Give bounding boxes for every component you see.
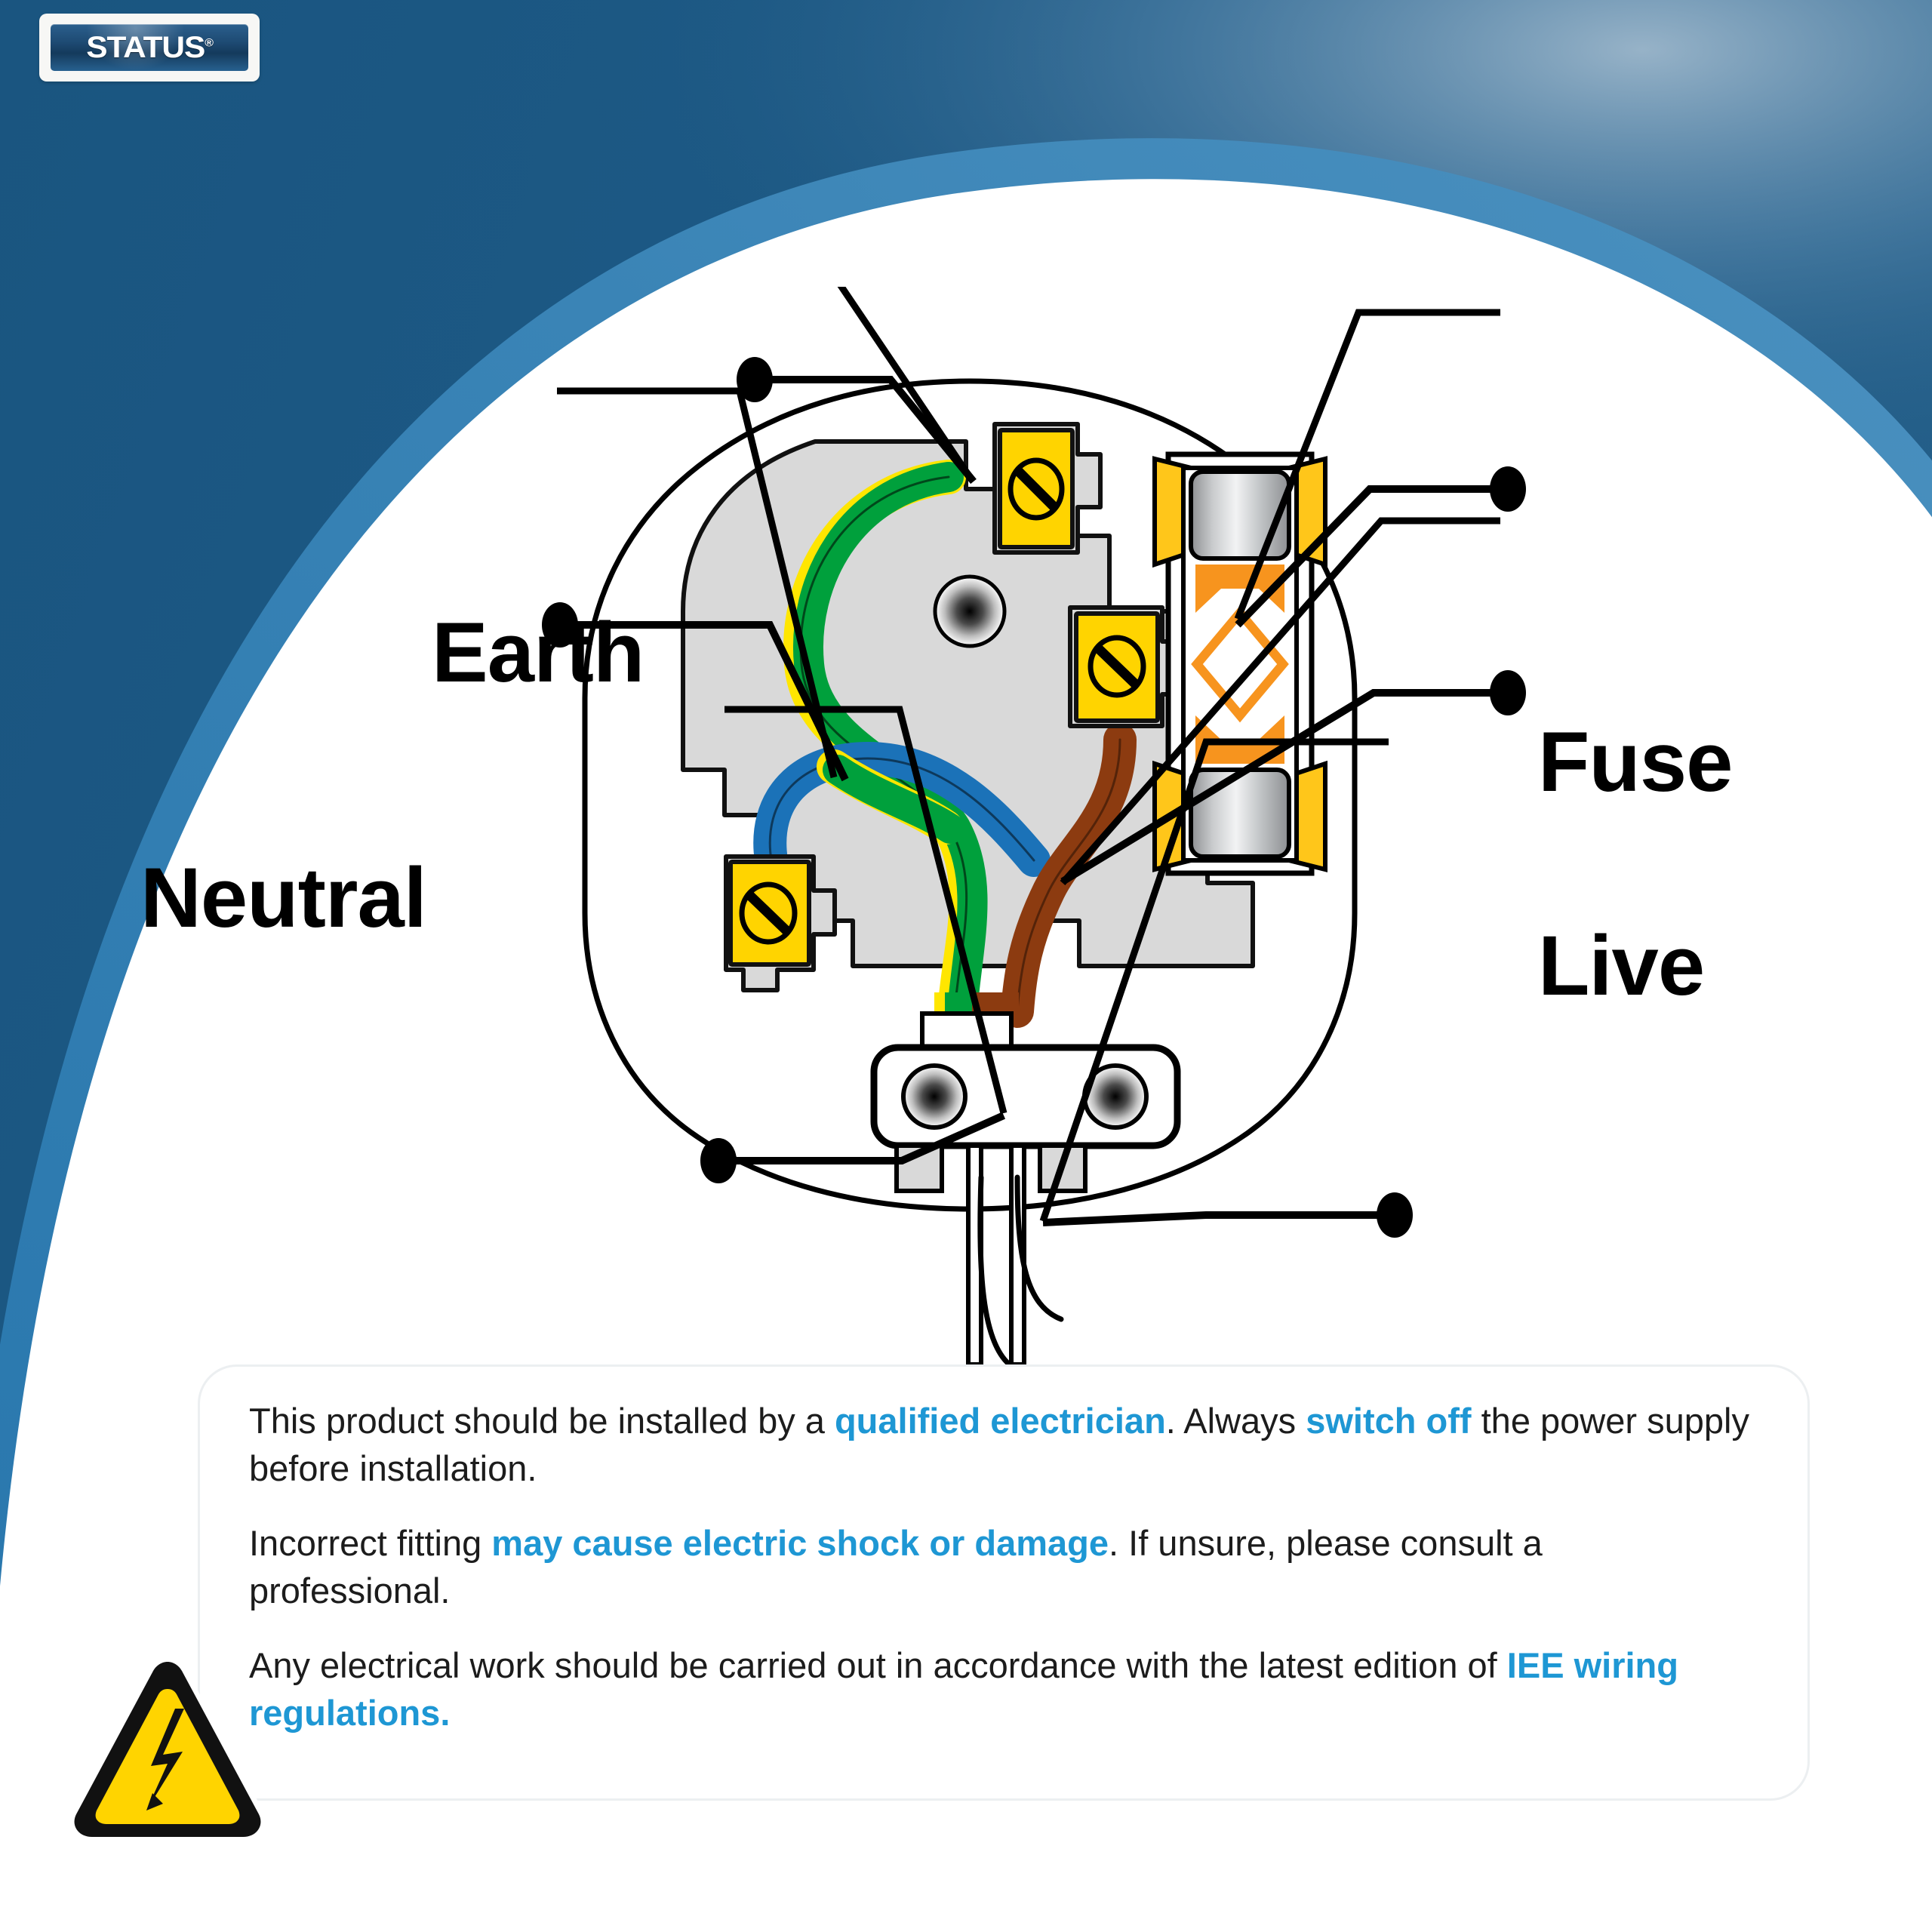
safety-notice-plain: Incorrect fitting — [249, 1523, 491, 1563]
safety-notice-highlight: switch off — [1306, 1401, 1471, 1441]
brand-logo[interactable]: STATUS® — [39, 14, 260, 82]
plug-wiring-diagram: Earth Neutral Fuse Live Cable Grip Flex — [0, 287, 1932, 1366]
brand-logo-text: STATUS® — [86, 32, 213, 63]
registered-mark-icon: ® — [205, 37, 213, 50]
safety-notice-paragraph: Incorrect fitting may cause electric sho… — [249, 1520, 1751, 1615]
cable-grip-screw-left — [903, 1066, 965, 1128]
safety-notice-paragraph: This product should be installed by a qu… — [249, 1398, 1751, 1493]
page-root: STATUS® — [0, 0, 1932, 1932]
safety-notice-plain: This product should be installed by a — [249, 1401, 835, 1441]
safety-notice-plain: Any electrical work should be carried ou… — [249, 1645, 1507, 1685]
safety-notice-text: This product should be installed by a qu… — [249, 1398, 1751, 1737]
electric-shock-warning-icon — [62, 1645, 273, 1850]
callout-label-earth: Earth — [432, 613, 644, 693]
fuse-cap-top — [1191, 472, 1289, 558]
earth-pin-hole — [935, 577, 1004, 646]
callout-label-live: Live — [1538, 926, 1704, 1006]
safety-notice-highlight: may cause electric shock or damage — [491, 1523, 1109, 1563]
safety-notice-paragraph: Any electrical work should be carried ou… — [249, 1642, 1751, 1737]
callout-label-neutral: Neutral — [140, 858, 426, 938]
safety-notice-plain: . Always — [1166, 1401, 1306, 1441]
safety-notice-highlight: qualified electrician — [835, 1401, 1166, 1441]
brand-logo-plate: STATUS® — [51, 24, 248, 71]
callout-label-fuse: Fuse — [1538, 722, 1732, 802]
fuse-cap-bottom — [1191, 770, 1289, 857]
